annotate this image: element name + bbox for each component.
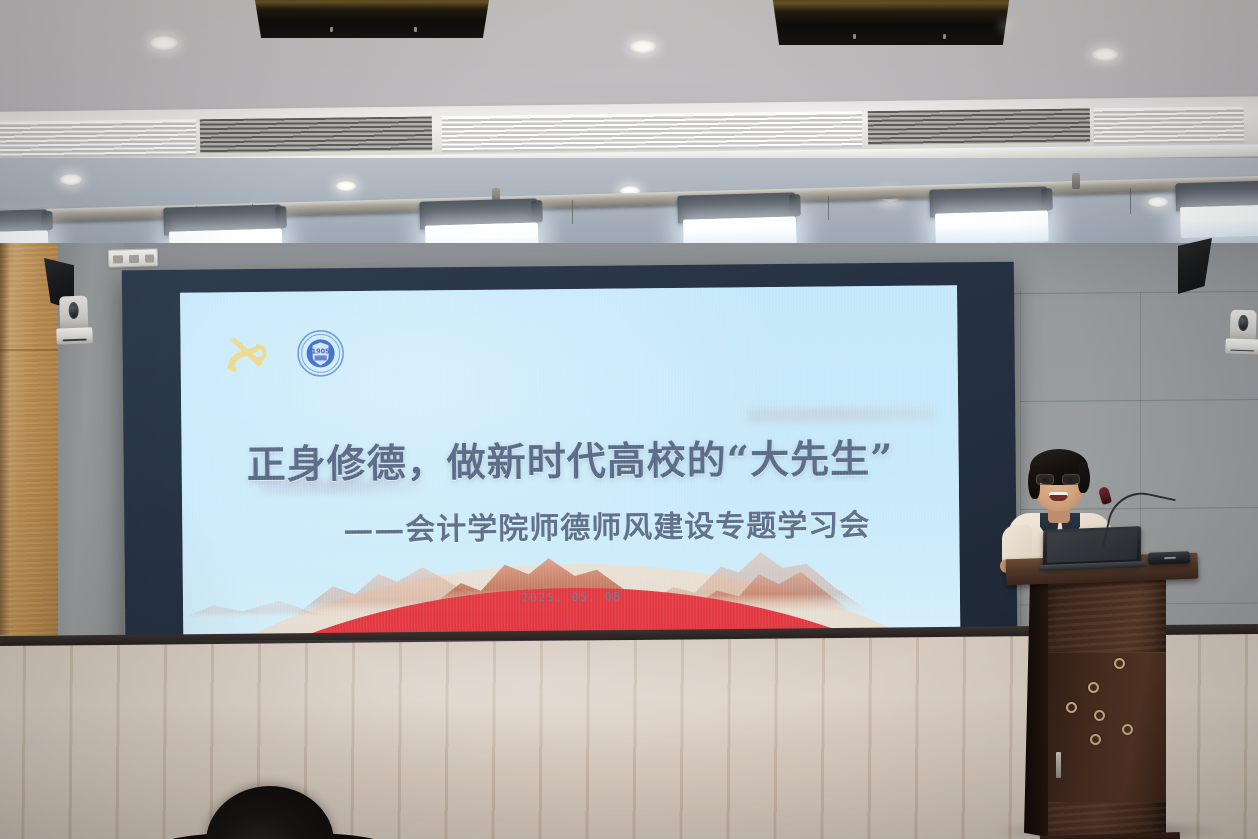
ptz-camera-left	[55, 295, 93, 344]
slide-subtitle: ——会计学院师德师风建设专题学习会	[182, 499, 959, 550]
lectern	[1012, 556, 1212, 839]
ceiling-downlight	[336, 181, 356, 191]
lectern-ring-decor	[1090, 734, 1101, 745]
ceiling-downlight	[60, 174, 82, 185]
lectern-ring-decor	[1088, 682, 1099, 693]
eyeglasses-icon	[1036, 474, 1082, 485]
projection-artifact	[746, 407, 936, 422]
lectern-decor-panel	[1048, 652, 1166, 802]
safety-wire	[1130, 188, 1131, 214]
air-vent-grille	[868, 108, 1090, 145]
university-seal-icon: 1905	[296, 329, 344, 377]
lectern-handle	[1056, 752, 1061, 778]
stage-light	[929, 186, 1048, 243]
svg-text:1905: 1905	[312, 347, 331, 355]
ceiling-downlight	[1148, 197, 1168, 207]
air-vent-grille	[442, 111, 862, 152]
safety-wire	[828, 196, 829, 220]
wall-outlet-plate[interactable]	[108, 248, 158, 267]
ceiling-panel-right	[772, 0, 1010, 45]
stage-light	[1175, 181, 1258, 238]
lectern-ring-decor	[1122, 724, 1133, 735]
air-vent-grille	[0, 119, 196, 157]
ceiling-downlight	[1092, 48, 1118, 61]
ceiling-downlight	[630, 40, 656, 53]
ptz-camera-right	[1225, 309, 1258, 354]
wall-shadow	[0, 243, 10, 635]
lecture-hall-photo: 1905 正身修德，做新时代高校的“大先生”	[0, 0, 1258, 839]
ceiling-downlight	[150, 36, 178, 50]
microphone-base	[1148, 551, 1190, 564]
lectern-ring-decor	[1114, 658, 1125, 669]
ceiling-panel-left	[254, 0, 490, 38]
slide-title: 正身修德，做新时代高校的“大先生”	[181, 427, 959, 490]
presenter-mouth	[1049, 492, 1068, 501]
stage-light	[677, 192, 796, 249]
air-vent-grille	[200, 116, 432, 153]
safety-wire	[572, 200, 573, 224]
lectern-ring-decor	[1066, 702, 1077, 713]
air-vent-grille	[1094, 107, 1244, 145]
cpc-party-emblem-icon	[222, 331, 270, 377]
truss-clamp	[1072, 173, 1080, 189]
lectern-ring-decor	[1094, 710, 1105, 721]
slide-logo-row: 1905	[222, 329, 344, 378]
